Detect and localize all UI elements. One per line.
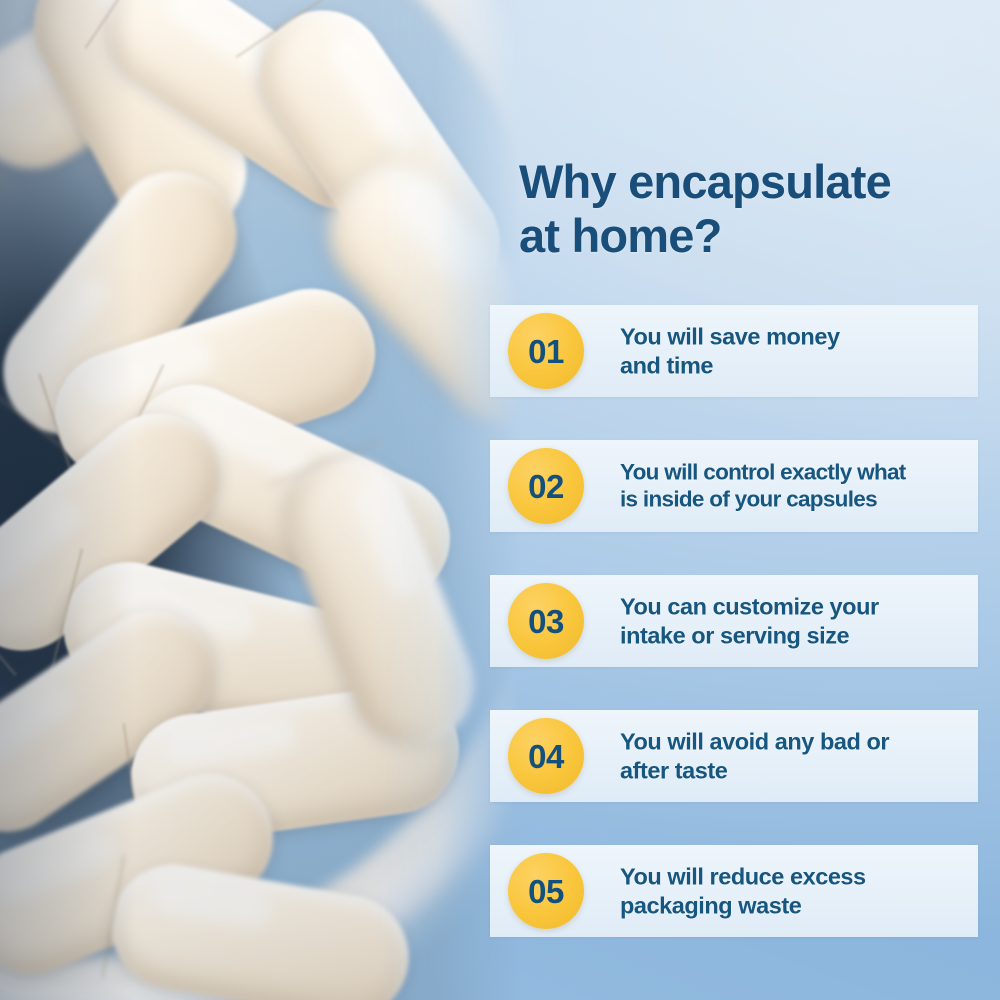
list-item-text: You will save money and time [620,322,982,379]
benefits-list: 01 You will save money and time 02 You w… [0,0,1000,1000]
list-item-number: 02 [528,470,564,503]
list-item: 05 You will reduce excess packaging wast… [0,845,1000,937]
list-item-text: You will avoid any bad or after taste [620,727,982,784]
list-item: 04 You will avoid any bad or after taste [0,710,1000,802]
list-item: 03 You can customize your intake or serv… [0,575,1000,667]
list-item-text-line-1: You can customize your [620,592,982,621]
list-item-text-line-1: You will control exactly what [620,459,982,486]
list-item-number-badge: 03 [508,583,584,659]
list-item-text: You will reduce excess packaging waste [620,862,982,919]
list-item-text-line-2: intake or serving size [620,621,982,650]
list-item-number-badge: 04 [508,718,584,794]
list-item-text: You can customize your intake or serving… [620,592,982,649]
list-item-text-line-1: You will avoid any bad or [620,727,982,756]
list-item-text-line-1: You will reduce excess [620,862,982,891]
list-item-number-badge: 01 [508,313,584,389]
list-item-text-line-2: is inside of your capsules [620,486,982,513]
list-item-text-line-1: You will save money [620,322,982,351]
list-item-number-badge: 05 [508,853,584,929]
list-item-number: 01 [528,335,564,368]
list-item: 02 You will control exactly what is insi… [0,440,1000,532]
list-item-text-line-2: after taste [620,756,982,785]
list-item: 01 You will save money and time [0,305,1000,397]
list-item-number: 05 [528,875,564,908]
list-item-number: 03 [528,605,564,638]
list-item-number-badge: 02 [508,448,584,524]
list-item-text-line-2: and time [620,351,982,380]
list-item-text-line-2: packaging waste [620,891,982,920]
list-item-text: You will control exactly what is inside … [620,459,982,514]
list-item-number: 04 [528,740,564,773]
infographic-canvas: Why encapsulate at home? 01 You will sav… [0,0,1000,1000]
